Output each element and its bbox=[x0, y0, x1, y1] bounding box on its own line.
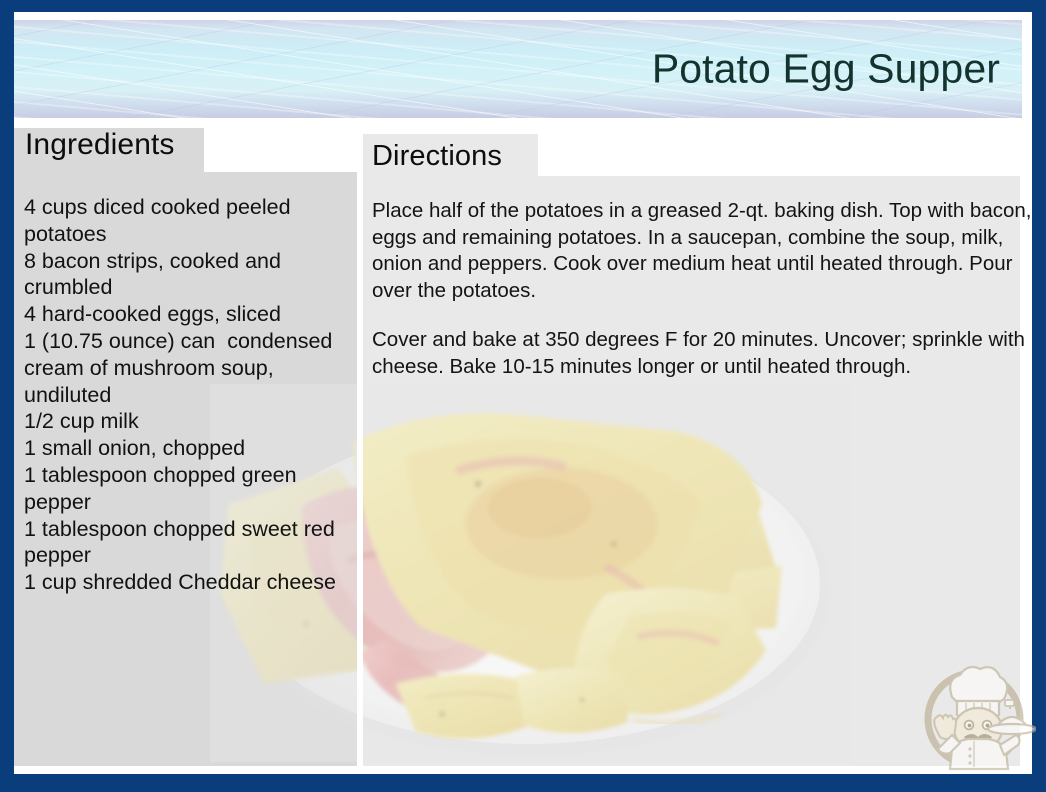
directions-heading-notch bbox=[538, 134, 1020, 176]
ingredient-item: 4 hard-cooked eggs, sliced bbox=[24, 301, 354, 328]
ingredient-item: 1 tablespoon chopped green pepper bbox=[24, 462, 354, 516]
ingredient-item: 1 (10.75 ounce) can condensed cream of m… bbox=[24, 328, 354, 408]
ingredients-heading-notch bbox=[204, 128, 362, 172]
ingredients-heading: Ingredients bbox=[25, 128, 175, 162]
directions-heading: Directions bbox=[372, 140, 502, 173]
recipe-card: Potato Egg Supper bbox=[0, 0, 1046, 792]
direction-paragraph: Cover and bake at 350 degrees F for 20 m… bbox=[372, 327, 1032, 380]
panel-divider bbox=[357, 128, 363, 766]
page-title: Potato Egg Supper bbox=[652, 46, 1000, 91]
ingredient-item: 8 bacon strips, cooked and crumbled bbox=[24, 248, 354, 302]
ingredient-item: 1 cup shredded Cheddar cheese bbox=[24, 569, 354, 596]
direction-paragraph: Place half of the potatoes in a greased … bbox=[372, 198, 1032, 304]
card-inner-surface: Potato Egg Supper bbox=[14, 12, 1032, 774]
directions-body: Place half of the potatoes in a greased … bbox=[372, 198, 1032, 403]
ingredient-item: 4 cups diced cooked peeled potatoes bbox=[24, 194, 354, 248]
ingredient-item: 1 small onion, chopped bbox=[24, 435, 354, 462]
photo-veil-right bbox=[363, 384, 850, 762]
chef-with-cloche-logo bbox=[912, 657, 1036, 775]
ingredient-item: 1/2 cup milk bbox=[24, 408, 354, 435]
header-banner: Potato Egg Supper bbox=[14, 20, 1022, 118]
ingredient-item: 1 tablespoon chopped sweet red pepper bbox=[24, 516, 354, 570]
ingredients-list: 4 cups diced cooked peeled potatoes8 bac… bbox=[24, 194, 354, 596]
